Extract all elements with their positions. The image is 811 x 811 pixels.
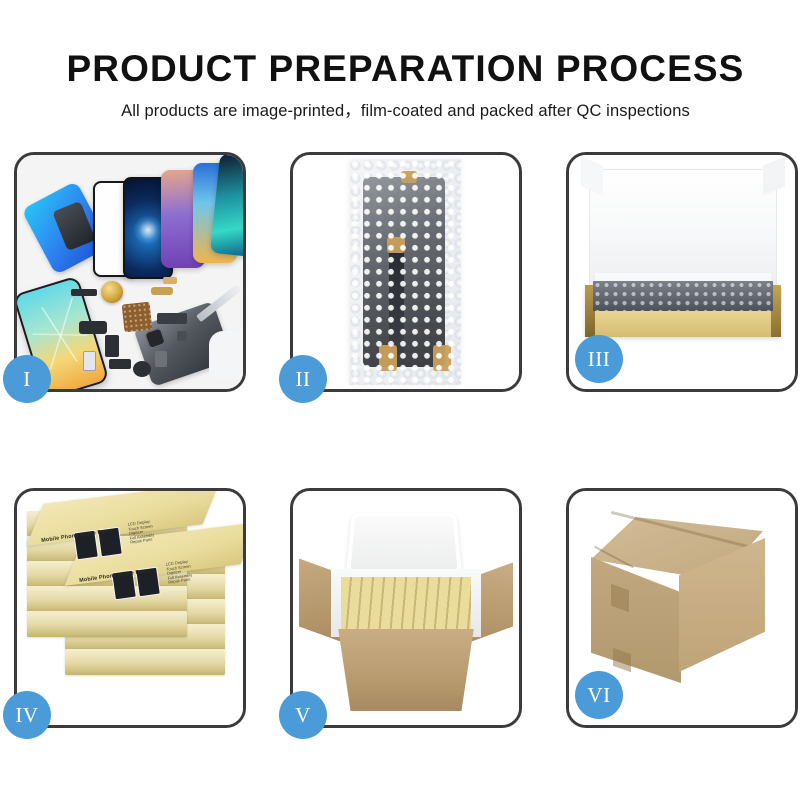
- component-sensor: [83, 351, 96, 371]
- retail-box-back-5: [27, 611, 187, 637]
- component-camera-module: [105, 335, 119, 357]
- component-speaker: [71, 289, 97, 296]
- component-gold-clip: [163, 277, 177, 284]
- photo-boxed-stack: Mobile Phone Spare Parts Mobile Phone Sp…: [17, 491, 243, 725]
- photo-spare-parts-overview: [17, 155, 243, 389]
- technician-hand: [209, 331, 243, 379]
- step-badge-2: II: [279, 355, 327, 403]
- component-screw-plate: [177, 331, 187, 341]
- component-ribbon: [157, 313, 187, 324]
- step-badge-3: III: [575, 335, 623, 383]
- product-preparation-infographic: PRODUCT PREPARATION PROCESS All products…: [0, 0, 811, 811]
- stacked-yellow-boxes: [341, 577, 471, 631]
- component-taptic-engine: [133, 361, 151, 377]
- step-panel-bubble-wrapping: II: [290, 152, 522, 392]
- step-badge-6: VI: [575, 671, 623, 719]
- step-panel-spare-parts-overview: I: [14, 152, 246, 392]
- component-bracket: [109, 359, 131, 369]
- tweezers-tool: [196, 284, 242, 322]
- step-badge-1: I: [3, 355, 51, 403]
- component-sim-tray: [155, 351, 167, 367]
- box-stack: Mobile Phone Spare Parts Mobile Phone Sp…: [21, 511, 237, 707]
- retail-box-left-5: [65, 649, 225, 675]
- bubble-wrapped-contents: [593, 281, 773, 311]
- logic-board-chip: [122, 302, 153, 333]
- steps-grid: I II: [14, 152, 799, 752]
- step-badge-5: V: [279, 691, 327, 739]
- component-gold-connector: [151, 287, 173, 295]
- wireless-charging-coil: [101, 281, 123, 303]
- outer-carton-body: [329, 629, 483, 711]
- page-subtitle: All products are image-printed，film-coat…: [0, 87, 811, 120]
- bubble-wrap-bag: [349, 159, 461, 385]
- photo-bubble-wrapping: [293, 155, 519, 389]
- page-title: PRODUCT PREPARATION PROCESS: [0, 0, 811, 87]
- photo-foam-carton-packing: [293, 491, 519, 725]
- step-badge-4: IV: [3, 691, 51, 739]
- step-panel-boxed-stack: Mobile Phone Spare Parts Mobile Phone Sp…: [14, 488, 246, 728]
- foam-box-body: [331, 569, 481, 637]
- component-flex-cable: [79, 321, 107, 334]
- retail-box-back-4: [27, 586, 187, 612]
- foam-box-lid: [346, 513, 462, 574]
- step-panel-inner-box-packing: III: [566, 152, 798, 392]
- bubble-texture-overlay: [349, 159, 461, 385]
- carton-front-face: [591, 557, 681, 683]
- box-spec-text-front: LCD Display Touch Screen Digitizer Full …: [166, 559, 194, 585]
- step-panel-sealed-carton: VI: [566, 488, 798, 728]
- header: PRODUCT PREPARATION PROCESS All products…: [0, 0, 811, 120]
- box-spec-text-back: LCD Display Touch Screen Digitizer Full …: [128, 519, 156, 545]
- step-panel-foam-carton-packing: V: [290, 488, 522, 728]
